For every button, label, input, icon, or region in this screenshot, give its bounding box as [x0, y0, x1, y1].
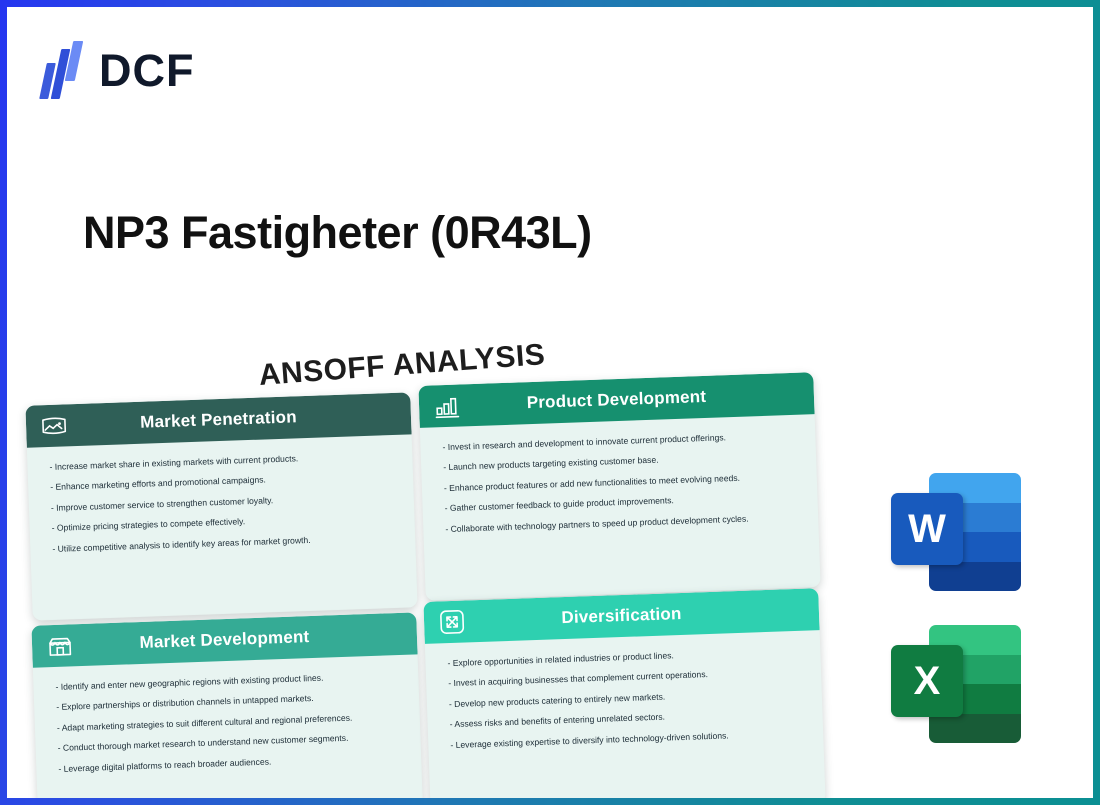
list-item: - Improve customer service to strengthen…	[51, 492, 398, 514]
excel-letter-tile: X	[891, 645, 963, 717]
list-item: - Increase market share in existing mark…	[49, 451, 396, 473]
quadrant-title: Diversification	[424, 599, 819, 633]
list-item: - Leverage digital platforms to reach br…	[58, 753, 405, 775]
quadrant-product-development: Product Development - Invest in research…	[418, 372, 820, 601]
list-item: - Optimize pricing strategies to compete…	[52, 512, 399, 534]
list-item: - Leverage existing expertise to diversi…	[450, 728, 807, 750]
list-item: - Invest in acquiring businesses that co…	[448, 667, 805, 689]
list-item: - Explore partnerships or distribution c…	[56, 691, 403, 713]
list-item: - Adapt marketing strategies to suit dif…	[57, 712, 404, 734]
dcf-bars-logo-icon	[43, 41, 85, 99]
list-item: - Launch new products targeting existing…	[443, 451, 800, 473]
page-title: NP3 Fastigheter (0R43L)	[83, 207, 592, 259]
quadrant-market-penetration: Market Penetration - Increase market sha…	[25, 392, 417, 620]
quadrant-bullets: - Invest in research and development to …	[420, 414, 819, 556]
expand-arrows-icon	[438, 607, 467, 636]
page-gradient-frame: DCF NP3 Fastigheter (0R43L) ANSOFF ANALY…	[0, 0, 1100, 805]
storefront-icon	[46, 631, 75, 660]
quadrant-diversification: Diversification - Explore opportunities …	[423, 588, 825, 798]
list-item: - Enhance product features or add new fu…	[444, 472, 801, 494]
list-item: - Develop new products catering to entir…	[449, 688, 806, 710]
ansoff-matrix: ANSOFF ANALYSIS Market Penetration	[7, 337, 867, 798]
page-canvas: DCF NP3 Fastigheter (0R43L) ANSOFF ANALY…	[7, 7, 1093, 798]
brand-logo: DCF	[43, 41, 194, 99]
quadrant-title: Product Development	[419, 383, 814, 417]
list-item: - Gather customer feedback to guide prod…	[445, 492, 802, 514]
list-item: - Explore opportunities in related indus…	[447, 647, 804, 669]
quadrant-title: Market Penetration	[26, 403, 411, 436]
quadrant-bullets: - Identify and enter new geographic regi…	[33, 654, 422, 796]
quadrant-title: Market Development	[32, 623, 417, 656]
bar-chart-icon	[433, 391, 462, 420]
quadrant-bullets: - Increase market share in existing mark…	[27, 434, 416, 576]
list-item: - Utilize competitive analysis to identi…	[52, 533, 399, 555]
image-frame-icon	[40, 411, 69, 440]
quadrant-bullets: - Explore opportunities in related indus…	[425, 630, 824, 772]
list-item: - Identify and enter new geographic regi…	[55, 671, 402, 693]
quadrant-market-development: Market Development - Identify and enter …	[31, 612, 423, 798]
microsoft-excel-icon: X	[891, 619, 1021, 749]
brand-name: DCF	[99, 48, 194, 93]
word-letter-tile: W	[891, 493, 963, 565]
list-item: - Conduct thorough market research to un…	[58, 732, 405, 754]
list-item: - Invest in research and development to …	[442, 431, 799, 453]
microsoft-word-icon: W	[891, 467, 1021, 597]
list-item: - Enhance marketing efforts and promotio…	[50, 471, 397, 493]
list-item: - Assess risks and benefits of entering …	[450, 708, 807, 730]
list-item: - Collaborate with technology partners t…	[445, 512, 802, 534]
